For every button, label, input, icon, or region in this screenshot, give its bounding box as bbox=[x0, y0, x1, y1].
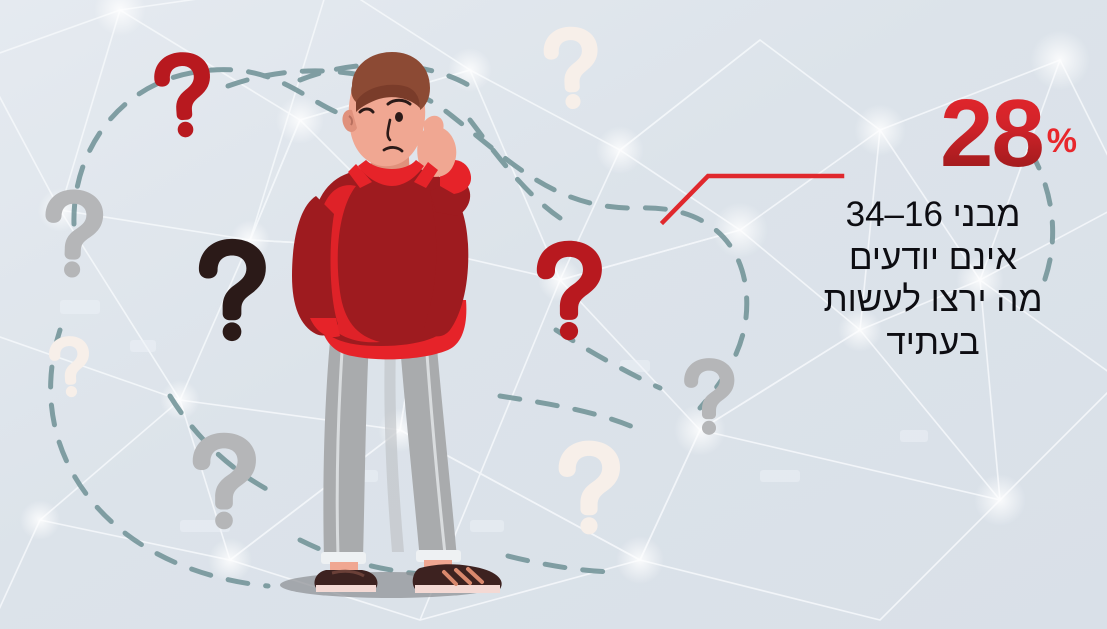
statistic-callout: 28% מבני 16–34 אינם יודעים מה ירצו לעשות… bbox=[785, 86, 1085, 365]
question-mark-gray-right bbox=[684, 358, 734, 435]
infographic-canvas: 28% מבני 16–34 אינם יודעים מה ירצו לעשות… bbox=[0, 0, 1107, 629]
right-shoe-sole bbox=[415, 585, 500, 593]
percentage-row: 28% bbox=[785, 86, 1085, 182]
caption-line-4: בעתיד bbox=[785, 322, 1081, 365]
question-mark-cream-bottom bbox=[559, 441, 620, 535]
caption-line-1: מבני 16–34 bbox=[785, 194, 1081, 237]
question-mark-cream-top bbox=[542, 25, 600, 110]
eye bbox=[395, 112, 403, 122]
left-leg bbox=[323, 330, 369, 560]
question-mark-gray-lower bbox=[193, 433, 256, 530]
statistic-caption: מבני 16–34 אינם יודעים מה ירצו לעשות בעת… bbox=[785, 194, 1085, 365]
caption-line-3: מה ירצו לעשות bbox=[785, 279, 1081, 322]
inner-leg-shade bbox=[384, 340, 404, 552]
statistic-value: 28 bbox=[940, 80, 1043, 187]
left-shoe-sole bbox=[316, 585, 376, 592]
question-mark-dark-center bbox=[199, 239, 266, 341]
question-mark-gray-left bbox=[43, 189, 104, 279]
question-mark-red-center bbox=[537, 241, 602, 340]
question-mark-cream-left bbox=[48, 335, 92, 399]
thinking-man-illustration bbox=[280, 52, 502, 598]
percent-symbol: % bbox=[1047, 122, 1077, 160]
caption-line-2: אינם יודעים bbox=[785, 237, 1081, 280]
question-mark-red-top bbox=[153, 50, 215, 139]
